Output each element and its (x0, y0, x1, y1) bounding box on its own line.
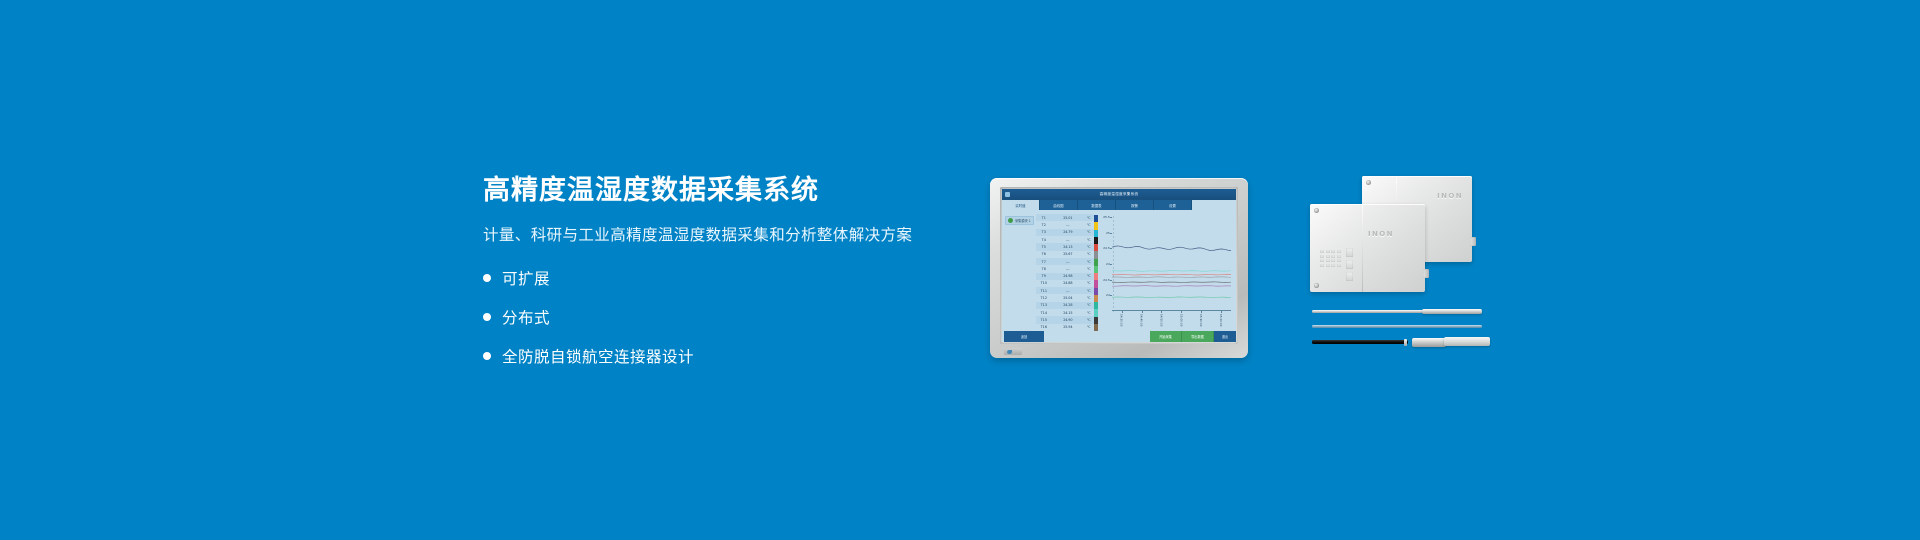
value-cell: --- (1052, 223, 1084, 227)
chart-series-canvas (1112, 217, 1231, 311)
x-axis-tick: 15:20:00 (1221, 311, 1222, 313)
thin-humidity-probe (1312, 324, 1482, 329)
x-axis-tick: 14:40:00 (1142, 311, 1143, 313)
channel-cell: T10 (1036, 281, 1052, 285)
table-row[interactable]: T1225.04℃ (1036, 294, 1094, 301)
channel-cell: T6 (1036, 252, 1052, 256)
value-cell: 25.04 (1052, 296, 1084, 300)
sensor-module-front: INON (1310, 204, 1425, 292)
y-axis-tick-label: 24.5 (1103, 246, 1110, 250)
tab-realtime[interactable]: 实时值 (1002, 200, 1040, 210)
unit-cell: ℃ (1084, 216, 1094, 220)
channel-cell: T5 (1036, 245, 1052, 249)
bottom-bar-spacer (1044, 331, 1150, 342)
unit-cell: ℃ (1084, 318, 1094, 322)
feature-label: 全防脱自锁航空连接器设计 (502, 345, 694, 367)
application-screen: 高精度温湿度采集系统 实时值 曲线图 数据表 报警 设置 采集模块 1 T125… (1002, 189, 1236, 342)
unit-cell: ℃ (1084, 325, 1094, 329)
bullet-icon (483, 352, 491, 360)
channel-cell: T8 (1036, 267, 1052, 271)
value-cell: --- (1052, 289, 1084, 293)
brand-label: INON (1437, 192, 1463, 200)
table-row[interactable]: T4---℃ (1036, 236, 1094, 243)
unit-cell: ℃ (1084, 303, 1094, 307)
x-axis-tick-label: 14:30:00 (1120, 314, 1124, 327)
channel-cell: T2 (1036, 223, 1052, 227)
stainless-temperature-probe (1312, 308, 1482, 314)
terminal-block-icon (1320, 250, 1341, 267)
screw-icon (1366, 180, 1371, 185)
y-axis-tick-label: 24 (1106, 262, 1110, 266)
feature-list: 可扩展 分布式 全防脱自锁航空连接器设计 (483, 267, 953, 367)
exit-button[interactable]: 退出 (1214, 331, 1236, 342)
value-cell: 24.28 (1052, 303, 1084, 307)
probe-shaft (1312, 310, 1432, 313)
channel-cell: T12 (1036, 296, 1052, 300)
module-slot (1346, 272, 1353, 281)
feature-label: 分布式 (502, 306, 550, 328)
table-row[interactable]: T1424.15℃ (1036, 309, 1094, 316)
back-button[interactable]: 返回 (1004, 331, 1044, 342)
value-cell: 24.88 (1052, 281, 1084, 285)
value-cell: 25.94 (1052, 325, 1084, 329)
table-row[interactable]: T924.98℃ (1036, 273, 1094, 280)
list-item: 全防脱自锁航空连接器设计 (483, 345, 953, 367)
tree-item-module[interactable]: 采集模块 1 (1005, 216, 1034, 225)
module-slot (1346, 260, 1353, 269)
bullet-icon (483, 313, 491, 321)
monitor-device: 高精度温湿度采集系统 实时值 曲线图 数据表 报警 设置 采集模块 1 T125… (990, 178, 1248, 358)
x-axis-tick: 15:00:00 (1181, 311, 1182, 313)
connector-port (1423, 269, 1429, 278)
y-axis-tick-label: 24.5 (1103, 278, 1110, 282)
list-item: 可扩展 (483, 267, 953, 289)
start-acquisition-button[interactable]: 开始采集 (1150, 331, 1182, 342)
chart-y-axis: 25.52524.52424.524 (1098, 217, 1112, 311)
x-axis-tick-label: 14:50:00 (1159, 314, 1163, 327)
channel-cell: T15 (1036, 318, 1052, 322)
page-subtitle: 计量、科研与工业高精度温湿度数据采集和分析整体解决方案 (483, 223, 953, 245)
app-tab-bar: 实时值 曲线图 数据表 报警 设置 (1002, 200, 1236, 210)
chart-series-line (1112, 297, 1231, 298)
chart-series-line (1112, 286, 1231, 287)
screw-icon (1314, 283, 1319, 288)
chart-series-line (1112, 274, 1231, 275)
sensor-hardware-group: INON INON (1300, 176, 1485, 366)
cabled-aviation-connector-probe (1312, 336, 1487, 348)
channel-cell: T13 (1036, 303, 1052, 307)
x-axis-tick-label: 15:10:00 (1199, 314, 1203, 327)
x-axis-tick-label: 15:20:00 (1219, 314, 1223, 327)
x-axis-tick: 14:30:00 (1122, 311, 1123, 313)
table-row[interactable]: T1625.94℃ (1036, 324, 1094, 331)
strain-relief (1404, 339, 1407, 346)
chart-x-axis: 14:30:0014:40:0014:50:0015:00:0015:10:00… (1112, 311, 1231, 331)
value-cell: 25.01 (1052, 216, 1084, 220)
app-bottom-bar: 返回 开始采集 导出数据 退出 (1002, 331, 1236, 342)
app-titlebar: 高精度温湿度采集系统 (1002, 189, 1236, 200)
channel-cell: T7 (1036, 260, 1052, 264)
value-cell: --- (1052, 260, 1084, 264)
list-item: 分布式 (483, 306, 953, 328)
channel-cell: T11 (1036, 289, 1052, 293)
value-cell: 24.79 (1052, 230, 1084, 234)
channel-table: T125.01℃T2---℃T324.79℃T4---℃T524.13℃T625… (1036, 213, 1094, 331)
unit-cell: ℃ (1084, 245, 1094, 249)
app-icon (1005, 192, 1010, 197)
app-body: 采集模块 1 T125.01℃T2---℃T324.79℃T4---℃T524.… (1002, 210, 1236, 331)
export-data-button[interactable]: 导出数据 (1182, 331, 1214, 342)
brand-label: INON (1368, 230, 1394, 238)
channel-cell: T16 (1036, 325, 1052, 329)
x-axis-tick-label: 14:40:00 (1140, 314, 1144, 327)
feature-label: 可扩展 (502, 267, 550, 289)
hero-copy: 高精度温湿度数据采集系统 计量、科研与工业高精度温湿度数据采集和分析整体解决方案… (483, 175, 953, 384)
table-row[interactable]: T1324.28℃ (1036, 302, 1094, 309)
table-row[interactable]: T11---℃ (1036, 287, 1094, 294)
value-cell: 24.98 (1052, 274, 1084, 278)
monitor-brand-icon (1007, 350, 1012, 354)
table-row[interactable]: T1024.88℃ (1036, 280, 1094, 287)
tab-bar-filler (1192, 200, 1236, 210)
connector-port (1470, 237, 1476, 246)
table-row[interactable]: T125.01℃ (1036, 214, 1094, 221)
channel-cell: T9 (1036, 274, 1052, 278)
value-cell: --- (1052, 267, 1084, 271)
tree-item-label: 采集模块 1 (1015, 218, 1031, 223)
unit-cell: ℃ (1084, 274, 1094, 278)
unit-cell: ℃ (1084, 238, 1094, 242)
monitor-inner-frame: 高精度温湿度采集系统 实时值 曲线图 数据表 报警 设置 采集模块 1 T125… (1000, 187, 1238, 344)
y-axis-tick-label: 25 (1106, 231, 1110, 235)
table-row[interactable]: T524.13℃ (1036, 243, 1094, 250)
table-row[interactable]: T8---℃ (1036, 265, 1094, 272)
table-row[interactable]: T1524.90℃ (1036, 316, 1094, 323)
unit-cell: ℃ (1084, 230, 1094, 234)
value-cell: 24.13 (1052, 245, 1084, 249)
channel-cell: T4 (1036, 238, 1052, 242)
module-seam (1362, 204, 1363, 292)
status-dot-icon (1008, 218, 1013, 223)
probe-cable (1312, 340, 1408, 344)
channel-cell: T14 (1036, 311, 1052, 315)
value-cell: 24.15 (1052, 311, 1084, 315)
y-axis-tick-label: 24 (1106, 293, 1110, 297)
y-axis-tick-label: 25.5 (1103, 215, 1110, 219)
tab-settings[interactable]: 设置 (1154, 200, 1192, 210)
table-row[interactable]: T625.67℃ (1036, 251, 1094, 258)
unit-cell: ℃ (1084, 252, 1094, 256)
unit-cell: ℃ (1084, 289, 1094, 293)
screw-icon (1314, 208, 1319, 213)
aviation-connector (1412, 338, 1446, 347)
value-cell: 24.90 (1052, 318, 1084, 322)
chart-series-line (1112, 277, 1231, 278)
unit-cell: ℃ (1084, 260, 1094, 264)
trend-chart: 25.52524.52424.524 14:30:0014:40:0014:50… (1098, 213, 1236, 331)
unit-cell: ℃ (1084, 267, 1094, 271)
x-axis-tick: 14:50:00 (1161, 311, 1162, 313)
tab-alarm[interactable]: 报警 (1116, 200, 1154, 210)
table-row[interactable]: T7---℃ (1036, 258, 1094, 265)
probe-sensor-head (1444, 337, 1490, 346)
value-cell: --- (1052, 238, 1084, 242)
unit-cell: ℃ (1084, 281, 1094, 285)
chart-series-line (1112, 246, 1231, 251)
x-axis-tick: 15:10:00 (1201, 311, 1202, 313)
page-title: 高精度温湿度数据采集系统 (483, 175, 953, 207)
table-row[interactable]: T324.79℃ (1036, 229, 1094, 236)
value-cell: 25.67 (1052, 252, 1084, 256)
table-row[interactable]: T2---℃ (1036, 221, 1094, 228)
unit-cell: ℃ (1084, 223, 1094, 227)
tab-curve[interactable]: 曲线图 (1040, 200, 1078, 210)
tab-datatable[interactable]: 数据表 (1078, 200, 1116, 210)
unit-cell: ℃ (1084, 311, 1094, 315)
chart-plot-area (1112, 217, 1231, 311)
bullet-icon (483, 274, 491, 282)
window-title: 高精度温湿度采集系统 (1100, 192, 1139, 197)
channel-cell: T1 (1036, 216, 1052, 220)
x-axis-tick-label: 15:00:00 (1179, 314, 1183, 327)
module-slot (1346, 248, 1353, 257)
probe-shaft (1312, 325, 1482, 328)
channel-cell: T3 (1036, 230, 1052, 234)
unit-cell: ℃ (1084, 296, 1094, 300)
probe-tip (1422, 309, 1482, 314)
device-tree-panel: 采集模块 1 (1002, 213, 1036, 331)
chart-series-line (1112, 271, 1231, 272)
chart-series-line (1112, 282, 1231, 283)
